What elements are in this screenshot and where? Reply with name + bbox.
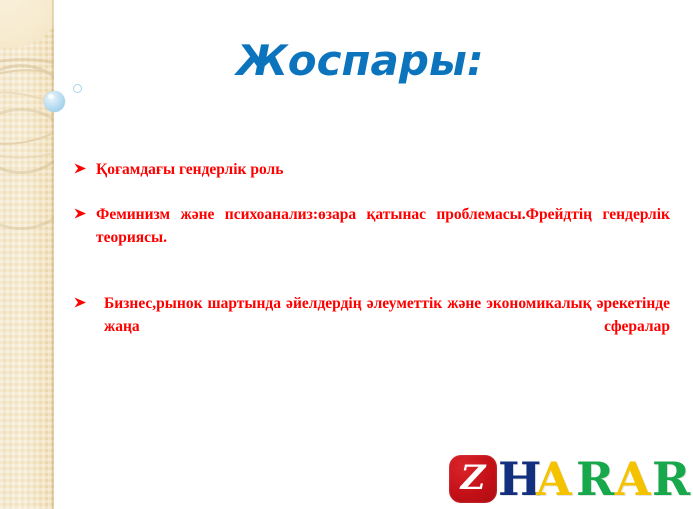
presentation-slide: Жоспары: Қоғамдағы гендерлік роль Фемини… <box>0 0 693 509</box>
arrow-bullet-icon <box>74 203 90 225</box>
arrow-bullet-icon <box>74 292 90 314</box>
list-item-text: Қоғамдағы гендерлік роль <box>96 158 670 181</box>
bullet-list: Қоғамдағы гендерлік роль Феминизм және п… <box>74 158 670 361</box>
logo-letter-h: H <box>498 452 541 506</box>
logo-badge-letter: Z <box>449 455 497 503</box>
sidebar-edge <box>52 0 54 509</box>
bubble-icon <box>44 91 65 112</box>
small-bubble-icon <box>73 84 82 93</box>
page-title: Жоспары: <box>120 36 600 85</box>
logo-letter-a1: A <box>536 452 572 506</box>
list-item: Феминизм және психоанализ:өзара қатынас … <box>74 203 670 272</box>
zharar-logo: Z H A R A R <box>449 452 685 506</box>
list-item-text: Бизнес,рынок шартында әйелдердің әлеумет… <box>104 292 670 361</box>
arrow-bullet-icon <box>74 158 90 180</box>
decorative-sidebar <box>0 0 54 509</box>
logo-letter-a2: A <box>615 452 651 506</box>
logo-badge: Z <box>449 455 497 503</box>
list-item-text: Феминизм және психоанализ:өзара қатынас … <box>96 206 670 269</box>
list-item: Бизнес,рынок шартында әйелдердің әлеумет… <box>74 292 670 361</box>
logo-letter-r2: R <box>652 452 690 506</box>
decorative-disc <box>0 0 54 48</box>
logo-letter-r1: R <box>576 452 614 506</box>
list-item: Қоғамдағы гендерлік роль <box>74 158 670 181</box>
